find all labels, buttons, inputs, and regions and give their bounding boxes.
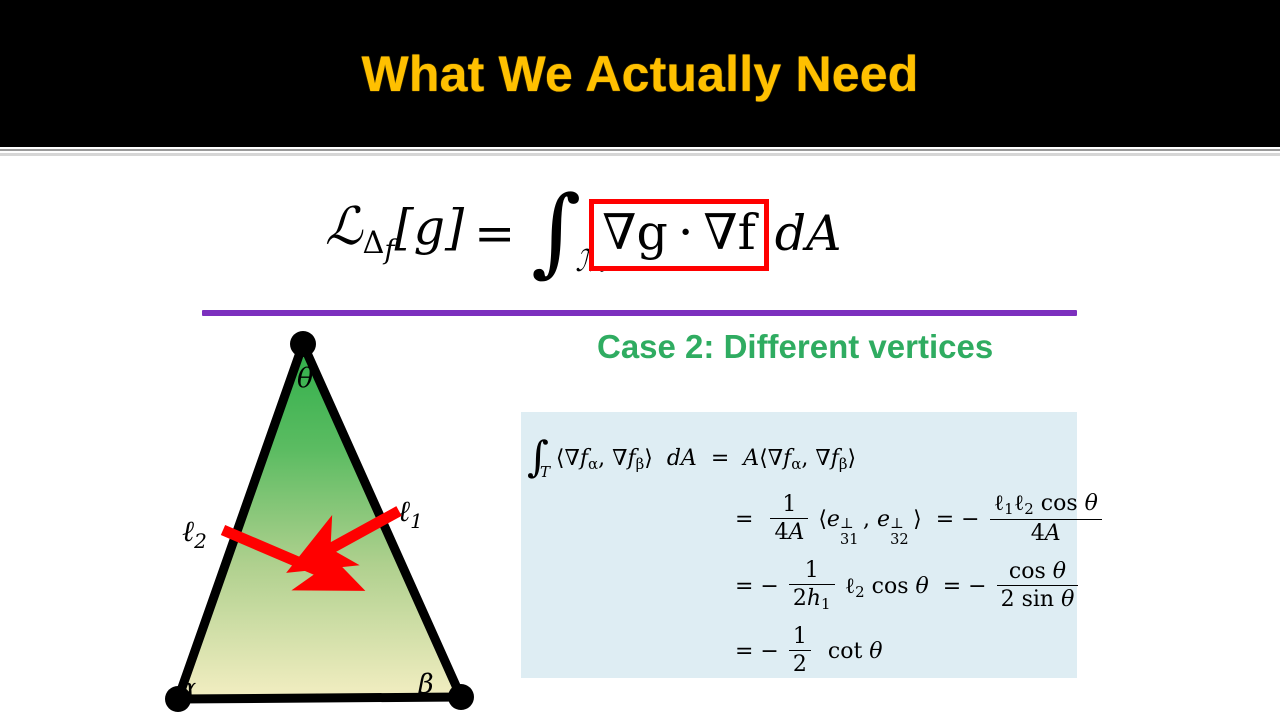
deriv-equals-3: = − xyxy=(929,507,980,532)
frac-denominator: 2h1 xyxy=(789,585,835,613)
slide-canvas: What We Actually Need ℒΔf[g] = ∫ℳ ∇g·∇f … xyxy=(0,0,1280,716)
label-beta: β xyxy=(417,669,434,700)
deriv-integral-line: ∫T ⟨∇fα, ∇fβ⟩ dA = A⟨∇fα, ∇fβ⟩ xyxy=(527,430,856,472)
deriv-equals-5: = − xyxy=(936,574,987,599)
deriv-line-4: = − 1 2 cot θ xyxy=(735,625,883,679)
case-heading: Case 2: Different vertices xyxy=(597,328,993,366)
frac-denominator: 4A xyxy=(770,519,808,545)
triangle-figure: θ α β ℓ1 ℓ2 xyxy=(150,325,510,716)
lhs-sub-delta: Δ xyxy=(362,226,384,261)
label-ell-2: ℓ2 xyxy=(182,514,207,553)
frac-numerator: 1 xyxy=(789,624,811,651)
frac-denominator: 2 sin θ xyxy=(997,586,1079,612)
equation-equals-sign: = xyxy=(474,205,515,262)
main-equation: ℒΔf[g] = ∫ℳ ∇g·∇f dA xyxy=(0,168,1280,298)
frac-numerator: 1 xyxy=(789,558,835,585)
banner-divider-line-upper xyxy=(0,149,1280,151)
equation-differential-area: dA xyxy=(775,205,842,262)
grad-f-term: ∇f xyxy=(703,204,755,261)
deriv-equals-1: = xyxy=(704,446,736,471)
deriv-line-2: = 1 4A ⟨e⊥31, e⊥32⟩ = − ℓ1ℓ2 cos θ 4A xyxy=(735,492,1105,548)
banner-divider-line-lower xyxy=(0,153,1280,156)
fraction-one-over-four-A: 1 4A xyxy=(770,492,808,546)
fraction-cos-over-two-sin: cos θ 2 sin θ xyxy=(997,559,1079,613)
vertex-dot-bottom-right xyxy=(448,684,474,710)
highlighted-gradient-term-box: ∇g·∇f xyxy=(589,199,769,271)
deriv-l2-cos-theta: ℓ2 cos θ xyxy=(845,574,929,599)
deriv-inner-product-rhs: A⟨∇fα, ∇fβ⟩ xyxy=(743,446,856,471)
frac-denominator: 4A xyxy=(990,520,1102,546)
script-L-glyph: ℒ xyxy=(325,197,362,257)
triangle-svg: θ α β ℓ1 ℓ2 xyxy=(150,325,510,716)
deriv-cot-theta: cot θ xyxy=(821,639,883,664)
label-ell-1: ℓ1 xyxy=(398,494,423,533)
vertex-dot-top xyxy=(290,331,316,357)
deriv-inner-product-lhs: ⟨∇fα, ∇fβ⟩ dA xyxy=(556,446,704,471)
deriv-equals-6: = − xyxy=(735,639,779,664)
frac-denominator: 2 xyxy=(789,651,811,677)
fraction-one-over-two-h1: 1 2h1 xyxy=(789,558,835,614)
grad-g-term: ∇g xyxy=(602,204,668,261)
derivation-box: ∫T ⟨∇fα, ∇fβ⟩ dA = A⟨∇fα, ∇fβ⟩ = 1 4A xyxy=(521,412,1077,678)
purple-divider-line xyxy=(202,310,1077,316)
fraction-one-half: 1 2 xyxy=(789,624,811,678)
page-title: What We Actually Need xyxy=(0,0,1280,147)
deriv-edge-inner-product: ⟨e⊥31, e⊥32⟩ xyxy=(818,507,921,532)
derivation-content: ∫T ⟨∇fα, ∇fβ⟩ dA = A⟨∇fα, ∇fβ⟩ = 1 4A xyxy=(521,412,1077,678)
frac-numerator: cos θ xyxy=(997,559,1079,586)
derivation-integral-symbol: ∫T xyxy=(527,436,549,478)
integral-glyph: ∫ xyxy=(531,175,581,287)
equation-lhs: ℒΔf[g] xyxy=(325,201,464,265)
label-alpha: α xyxy=(178,673,196,704)
deriv-line-3: = − 1 2h1 ℓ2 cos θ = − cos θ 2 sin θ xyxy=(735,559,1081,615)
frac-numerator: ℓ1ℓ2 cos θ xyxy=(990,491,1102,520)
main-equation-row: ℒΔf[g] = ∫ℳ ∇g·∇f dA xyxy=(325,168,842,298)
fraction-l1-l2-cos-theta-over-4A: ℓ1ℓ2 cos θ 4A xyxy=(990,491,1102,547)
deriv-equals-2: = xyxy=(735,507,760,532)
frac-numerator: 1 xyxy=(770,492,808,519)
lhs-sub-f: f xyxy=(384,235,394,266)
derivation-integral-subscript-T: T xyxy=(540,465,550,480)
dot-product-operator: · xyxy=(678,204,694,261)
lhs-bracket-g: [g] xyxy=(395,199,465,256)
deriv-equals-4: = − xyxy=(735,574,779,599)
label-theta: θ xyxy=(297,363,313,394)
integral-symbol: ∫ℳ xyxy=(531,183,581,279)
